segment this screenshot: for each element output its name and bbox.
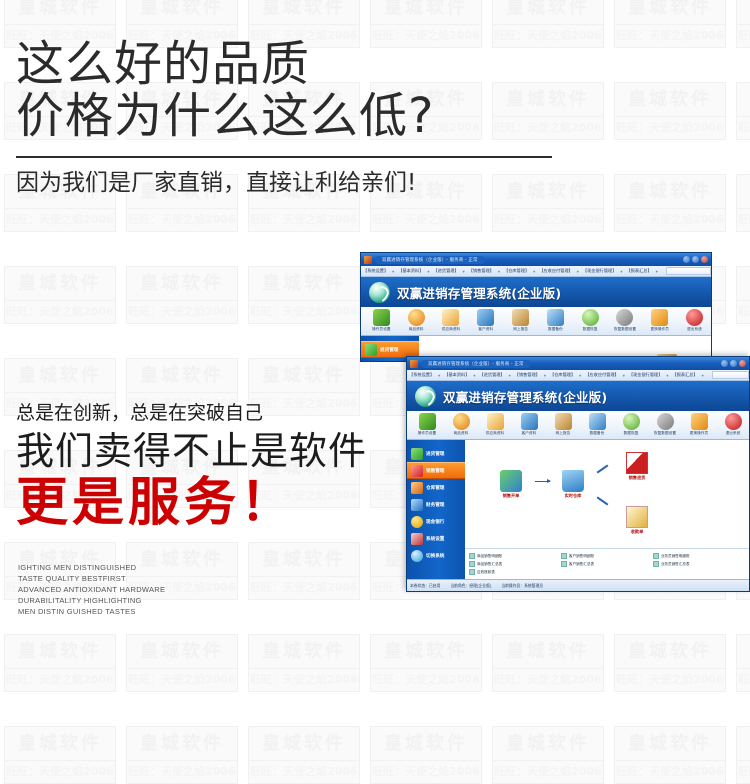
status-left: 本卷状态：已启用 — [410, 583, 440, 589]
toolbar-button-supplier[interactable]: 供应商资料 — [435, 309, 468, 332]
warehouse-icon — [411, 482, 423, 494]
toolbar-button-restore[interactable]: 数据恢复 — [574, 309, 607, 332]
toolbar-label: 网上报告 — [556, 431, 571, 436]
titlebar-front[interactable]: 双赢进销存管理系统（企业版）- 服务商 - 正常 — [407, 357, 749, 370]
sale-return-icon — [626, 452, 648, 474]
chevron-down-icon[interactable]: ▾ — [579, 373, 581, 378]
sidebar-item-cash[interactable]: 现金银行 — [407, 513, 465, 530]
watermark-brand: 皇城软件 — [615, 727, 725, 761]
app-icon — [364, 256, 372, 264]
report-checkbox-3[interactable]: 商品销售汇总表 — [469, 560, 561, 568]
reset-icon — [616, 309, 633, 326]
headline-line-2: 价格为什么这么低? — [16, 90, 556, 142]
toolbar-label: 客户资料 — [478, 327, 493, 332]
report-checkbox-1[interactable]: 客户销售明细账 — [561, 552, 653, 560]
menu-item-4[interactable]: 【仓库管理】 — [550, 372, 575, 378]
toolbar-label: 商品资料 — [409, 327, 424, 332]
chevron-down-icon[interactable]: ▾ — [463, 269, 465, 274]
checkbox-label: 应收账款表 — [477, 570, 495, 575]
sale-icon — [365, 361, 377, 363]
settings-icon — [411, 533, 423, 545]
menu-item-3[interactable]: 【销售管理】 — [515, 372, 540, 378]
restore-icon — [582, 309, 599, 326]
toolbar-button-stock[interactable]: 网上报告 — [547, 413, 579, 436]
people-icon — [373, 309, 390, 326]
english-caption-line-4: DURABILITALITY HIGHLIGHTING — [18, 595, 165, 606]
checkbox-label: 客户销售汇总表 — [569, 562, 594, 567]
flow-node-sale[interactable]: 销售开单 — [491, 470, 531, 499]
toolbar-button-operator[interactable]: 更换操作员 — [643, 309, 676, 332]
flow-label-return: 销售退货 — [617, 475, 657, 481]
window-controls-front[interactable] — [721, 360, 746, 367]
sidebar-item-label: 切换系统 — [426, 553, 444, 559]
report-checkbox-5[interactable]: 业务员销售汇总表 — [653, 560, 745, 568]
slogan-line-2: 我们卖得不止是软件 — [16, 428, 396, 474]
watermark-brand: 皇城软件 — [249, 727, 359, 761]
exit-icon — [686, 309, 703, 326]
chevron-down-icon[interactable]: ▾ — [656, 269, 658, 274]
stock-icon — [555, 413, 572, 430]
brand-logo-icon — [415, 386, 436, 407]
watermark-contact: 旺旺：天使之焰2006 — [738, 761, 750, 783]
toolbar-label: 供应商资料 — [486, 431, 504, 436]
toolbar-label: 恢复数据设置 — [614, 327, 636, 332]
slogan-line-1: 总是在创新，总是在突破自己 — [16, 400, 396, 426]
people-icon — [419, 413, 436, 430]
toolbar-button-backup[interactable]: 数据备份 — [539, 309, 572, 332]
watermark-brand: 皇城软件 — [5, 727, 115, 761]
menubar-back[interactable]: 【系统设置】▾【基本资料】▾【进货管理】▾【销售管理】▾【仓库管理】▾【应收应付… — [361, 266, 711, 277]
checkbox-label: 商品销售明细账 — [477, 554, 502, 559]
chevron-down-icon[interactable]: ▾ — [498, 269, 500, 274]
reset-icon — [657, 413, 674, 430]
watermark-tile: 皇城软件旺旺：天使之焰2006 — [492, 726, 604, 784]
address-field[interactable] — [712, 371, 749, 379]
menu-item-7[interactable]: 【报表汇总】 — [627, 268, 652, 274]
window-title-back: 双赢进销存管理系统（企业版）- 服务商 - 正常 — [375, 256, 485, 264]
english-caption-line-5: MEN DISTIN GUISHED TASTES — [18, 606, 165, 617]
report-checkbox-4[interactable]: 客户销售汇总表 — [561, 560, 653, 568]
checkbox-icon[interactable] — [653, 553, 659, 559]
toolbar-button-stock[interactable]: 网上报告 — [504, 309, 537, 332]
slogan-line-3: 更是服务！ — [16, 474, 396, 532]
english-caption-line-2: TASTE QUALITY BESTFIRST — [18, 573, 165, 584]
toolbar-label: 操作员设置 — [372, 327, 390, 332]
sidebar-item-warehouse[interactable]: 仓库管理 — [407, 479, 465, 496]
watermark-contact: 旺旺：天使之焰2006 — [372, 761, 480, 783]
toolbar-label: 退出系统 — [687, 327, 702, 332]
sidebar-item-sale[interactable]: 销售管理 — [407, 462, 465, 479]
toolbar-button-supplier[interactable]: 供应商资料 — [479, 413, 511, 436]
sidebar-item-label: 销售管理 — [426, 468, 444, 474]
customer-icon — [477, 309, 494, 326]
maximize-icon[interactable] — [692, 256, 699, 263]
flow-node-return[interactable]: 销售退货 — [617, 452, 657, 481]
checkbox-icon[interactable] — [653, 561, 659, 567]
sidebar-item-basket[interactable]: 进货管理 — [407, 445, 465, 462]
sidebar-item-label: 进货管理 — [426, 451, 444, 457]
supplier-icon — [487, 413, 504, 430]
exit-icon — [725, 413, 742, 430]
chevron-down-icon[interactable]: ▾ — [392, 269, 394, 274]
menu-item-7[interactable]: 【报表汇总】 — [673, 372, 698, 378]
flow-label-receipt: 收款单 — [617, 529, 657, 535]
toolbar-button-goods[interactable]: 商品资料 — [400, 309, 433, 332]
toolbar-label: 更换操作员 — [690, 431, 708, 436]
toolbar-button-operator[interactable]: 更换操作员 — [683, 413, 715, 436]
sidebar-item-finance[interactable]: 财务管理 — [407, 496, 465, 513]
basket-icon — [365, 344, 377, 356]
menu-item-2[interactable]: 【进货管理】 — [480, 372, 505, 378]
sidebar-item-label: 财务管理 — [426, 502, 444, 508]
arrow-warehouse-to-receipt — [597, 496, 609, 505]
chevron-down-icon[interactable]: ▾ — [623, 373, 625, 378]
customer-icon — [521, 413, 538, 430]
toolbar-label: 操作员设置 — [418, 431, 436, 436]
watermark-brand: 皇城软件 — [127, 727, 237, 761]
checkbox-label: 客户销售明细账 — [569, 554, 594, 559]
restore-icon — [623, 413, 640, 430]
english-caption-block: IGHTING MEN DISTINGUISHEDTASTE QUALITY B… — [18, 562, 165, 617]
window-controls-back[interactable] — [683, 256, 708, 263]
watermark-tile: 皇城软件旺旺：天使之焰2006 — [126, 726, 238, 784]
watermark-tile: 皇城软件旺旺：天使之焰2006 — [614, 726, 726, 784]
brandbar-back: 双赢进销存管理系统(企业版) — [361, 277, 711, 307]
english-caption-line-3: ADVANCED ANTIOXIDANT HARDWARE — [18, 584, 165, 595]
checkbox-icon[interactable] — [469, 561, 475, 567]
watermark-brand: 皇城软件 — [371, 727, 481, 761]
goods-icon — [453, 413, 470, 430]
backup-icon — [547, 309, 564, 326]
toolbar-button-reset[interactable]: 恢复数据设置 — [609, 309, 642, 332]
report-checkbox-grid[interactable]: 商品销售明细账客户销售明细账业务员销售明细账商品销售汇总表客户销售汇总表业务员销… — [465, 548, 749, 579]
status-right: 当前操作员：系统管理员 — [501, 583, 543, 589]
chevron-down-icon[interactable]: ▾ — [509, 373, 511, 378]
headline-divider — [16, 156, 552, 158]
checkbox-label: 业务员销售汇总表 — [661, 562, 690, 567]
checkbox-icon[interactable] — [561, 561, 567, 567]
operator-icon — [651, 309, 668, 326]
menu-item-3[interactable]: 【销售管理】 — [469, 268, 494, 274]
goods-icon — [408, 309, 425, 326]
flow-label-warehouse: 实时仓库 — [553, 493, 593, 499]
switch-icon — [411, 550, 423, 562]
menu-item-0[interactable]: 【系统设置】 — [363, 268, 388, 274]
toolbar-label: 数据备份 — [590, 431, 605, 436]
chevron-down-icon[interactable]: ▾ — [702, 373, 704, 378]
checkbox-icon[interactable] — [469, 553, 475, 559]
close-icon[interactable] — [739, 360, 746, 367]
toolbar-front[interactable]: 操作员设置商品资料供应商资料客户资料网上报告数据备份数据恢复恢复数据设置更换操作… — [407, 411, 749, 440]
chevron-down-icon[interactable]: ▾ — [533, 269, 535, 274]
menu-item-5[interactable]: 【应收应付管理】 — [539, 268, 573, 274]
window-title-front: 双赢进销存管理系统（企业版）- 服务商 - 正常 — [421, 360, 531, 368]
toolbar-button-people[interactable]: 操作员设置 — [365, 309, 398, 332]
menu-item-1[interactable]: 【基本资料】 — [444, 372, 469, 378]
report-checkbox-2[interactable]: 业务员销售明细账 — [653, 552, 745, 560]
brandbar-front: 双赢进销存管理系统(企业版) — [407, 381, 749, 411]
menubar-front[interactable]: 【系统设置】▾【基本资料】▾【进货管理】▾【销售管理】▾【仓库管理】▾【应收应付… — [407, 370, 749, 381]
flow-node-warehouse[interactable]: 实时仓库 — [553, 470, 593, 499]
toolbar-back[interactable]: 操作员设置商品资料供应商资料客户资料网上报告数据备份数据恢复恢复数据设置更换操作… — [361, 307, 711, 336]
operator-icon — [691, 413, 708, 430]
maximize-icon[interactable] — [730, 360, 737, 367]
toolbar-label: 供应商资料 — [442, 327, 460, 332]
watermark-contact: 旺旺：天使之焰2006 — [6, 761, 114, 783]
cash-icon — [411, 516, 423, 528]
chevron-down-icon[interactable]: ▾ — [620, 269, 622, 274]
watermark-contact: 旺旺：天使之焰2006 — [128, 761, 236, 783]
sidebar-item-label: 仓库管理 — [426, 485, 444, 491]
toolbar-label: 数据备份 — [548, 327, 563, 332]
statusbar-front: 本卷状态：已启用 当前角色：经理[企业版] 当前操作员：系统管理员 — [407, 579, 749, 591]
report-checkbox-0[interactable]: 商品销售明细账 — [469, 552, 561, 560]
chevron-down-icon[interactable]: ▾ — [438, 373, 440, 378]
toolbar-label: 商品资料 — [454, 431, 469, 436]
toolbar-label: 数据恢复 — [583, 327, 598, 332]
watermark-tile: 皇城软件旺旺：天使之焰2006 — [370, 726, 482, 784]
arrow-warehouse-to-return — [597, 464, 609, 473]
menu-item-6[interactable]: 【现金银行管理】 — [629, 372, 663, 378]
toolbar-label: 更换操作员 — [651, 327, 669, 332]
chevron-down-icon[interactable]: ▾ — [427, 269, 429, 274]
menu-item-5[interactable]: 【应收应付管理】 — [585, 372, 619, 378]
watermark-contact: 旺旺：天使之焰2006 — [616, 761, 724, 783]
sidebar-front[interactable]: 进货管理销售管理仓库管理财务管理现金银行系统设置切换系统 — [407, 440, 465, 592]
status-mid: 当前角色：经理[企业版] — [450, 583, 491, 589]
menu-item-1[interactable]: 【基本资料】 — [398, 268, 423, 274]
checkbox-label: 业务员销售明细账 — [661, 554, 690, 559]
sidebar-item-label: 系统设置 — [426, 536, 444, 542]
toolbar-label: 网上报告 — [513, 327, 528, 332]
address-field[interactable] — [666, 267, 711, 275]
watermark-brand: 皇城软件 — [493, 727, 603, 761]
toolbar-button-customer[interactable]: 客户资料 — [469, 309, 502, 332]
checkbox-icon[interactable] — [469, 569, 475, 575]
chevron-down-icon[interactable]: ▾ — [577, 269, 579, 274]
sidebar-item-switch[interactable]: 切换系统 — [407, 547, 465, 564]
arrow-sale-to-warehouse — [535, 481, 550, 482]
english-caption-line-1: IGHTING MEN DISTINGUISHED — [18, 562, 165, 573]
sale-icon — [411, 465, 423, 477]
page-content: 这么好的品质 价格为什么这么低? 因为我们是厂家直销，直接让利给亲们! 总是在创… — [0, 0, 750, 673]
toolbar-label: 客户资料 — [522, 431, 537, 436]
stock-icon — [512, 309, 529, 326]
titlebar-back[interactable]: 双赢进销存管理系统（企业版）- 服务商 - 正常 — [361, 253, 711, 266]
toolbar-button-backup[interactable]: 数据备份 — [581, 413, 613, 436]
checkbox-icon[interactable] — [561, 553, 567, 559]
flow-label-sale: 销售开单 — [491, 493, 531, 499]
watermark-tile: 皇城软件旺旺：天使之焰2006 — [248, 726, 360, 784]
toolbar-button-exit[interactable]: 退出系统 — [678, 309, 711, 332]
app-window-front[interactable]: 双赢进销存管理系统（企业版）- 服务商 - 正常 【系统设置】▾【基本资料】▾【… — [406, 356, 750, 592]
toolbar-button-reset[interactable]: 恢复数据设置 — [649, 413, 681, 436]
chevron-down-icon[interactable]: ▾ — [473, 373, 475, 378]
menu-item-2[interactable]: 【进货管理】 — [434, 268, 459, 274]
flow-node-receipt[interactable]: 收款单 — [617, 506, 657, 535]
toolbar-label: 数据恢复 — [624, 431, 639, 436]
receipt-icon — [626, 506, 648, 528]
toolbar-label: 退出系统 — [726, 431, 741, 436]
workarea-front: 销售开单 实时仓库 销售退货 收款单 — [465, 440, 749, 592]
app-icon — [410, 360, 418, 368]
toolbar-button-people[interactable]: 操作员设置 — [411, 413, 443, 436]
brand-logo-icon — [369, 282, 390, 303]
report-checkbox-6[interactable]: 应收账款表 — [469, 568, 561, 576]
close-icon[interactable] — [701, 256, 708, 263]
basket-icon — [411, 448, 423, 460]
toolbar-button-goods[interactable]: 商品资料 — [445, 413, 477, 436]
watermark-contact: 旺旺：天使之焰2006 — [250, 761, 358, 783]
toolbar-button-restore[interactable]: 数据恢复 — [615, 413, 647, 436]
supplier-icon — [442, 309, 459, 326]
brand-title-front: 双赢进销存管理系统(企业版) — [443, 387, 607, 406]
checkbox-label: 商品销售汇总表 — [477, 562, 502, 567]
warehouse-icon — [562, 470, 584, 492]
minimize-icon[interactable] — [683, 256, 690, 263]
finance-icon — [411, 499, 423, 511]
watermark-tile: 皇城软件旺旺：天使之焰2006 — [4, 726, 116, 784]
watermark-tile: 皇城软件旺旺：天使之焰2006 — [736, 726, 750, 784]
watermark-contact: 旺旺：天使之焰2006 — [494, 761, 602, 783]
minimize-icon[interactable] — [721, 360, 728, 367]
brand-title-back: 双赢进销存管理系统(企业版) — [397, 283, 561, 302]
slogan-block: 总是在创新，总是在突破自己 我们卖得不止是软件 更是服务！ — [16, 400, 396, 532]
menu-item-6[interactable]: 【现金银行管理】 — [583, 268, 617, 274]
headline-line-1: 这么好的品质 — [16, 38, 556, 90]
toolbar-button-customer[interactable]: 客户资料 — [513, 413, 545, 436]
sidebar-item-settings[interactable]: 系统设置 — [407, 530, 465, 547]
headline-block: 这么好的品质 价格为什么这么低? 因为我们是厂家直销，直接让利给亲们! — [16, 38, 556, 198]
sale-order-icon — [500, 470, 522, 492]
sidebar-item-label: 进货管理 — [380, 347, 398, 353]
menu-item-4[interactable]: 【仓库管理】 — [504, 268, 529, 274]
watermark-brand: 皇城软件 — [737, 727, 750, 761]
headline-subtitle: 因为我们是厂家直销，直接让利给亲们! — [16, 168, 556, 198]
sidebar-item-label: 现金银行 — [426, 519, 444, 525]
chevron-down-icon[interactable]: ▾ — [666, 373, 668, 378]
toolbar-button-exit[interactable]: 退出系统 — [717, 413, 749, 436]
app-window-back[interactable]: 双赢进销存管理系统（企业版）- 服务商 - 正常 【系统设置】▾【基本资料】▾【… — [360, 252, 712, 362]
menu-item-0[interactable]: 【系统设置】 — [409, 372, 434, 378]
toolbar-label: 恢复数据设置 — [654, 431, 676, 436]
chevron-down-icon[interactable]: ▾ — [544, 373, 546, 378]
backup-icon — [589, 413, 606, 430]
